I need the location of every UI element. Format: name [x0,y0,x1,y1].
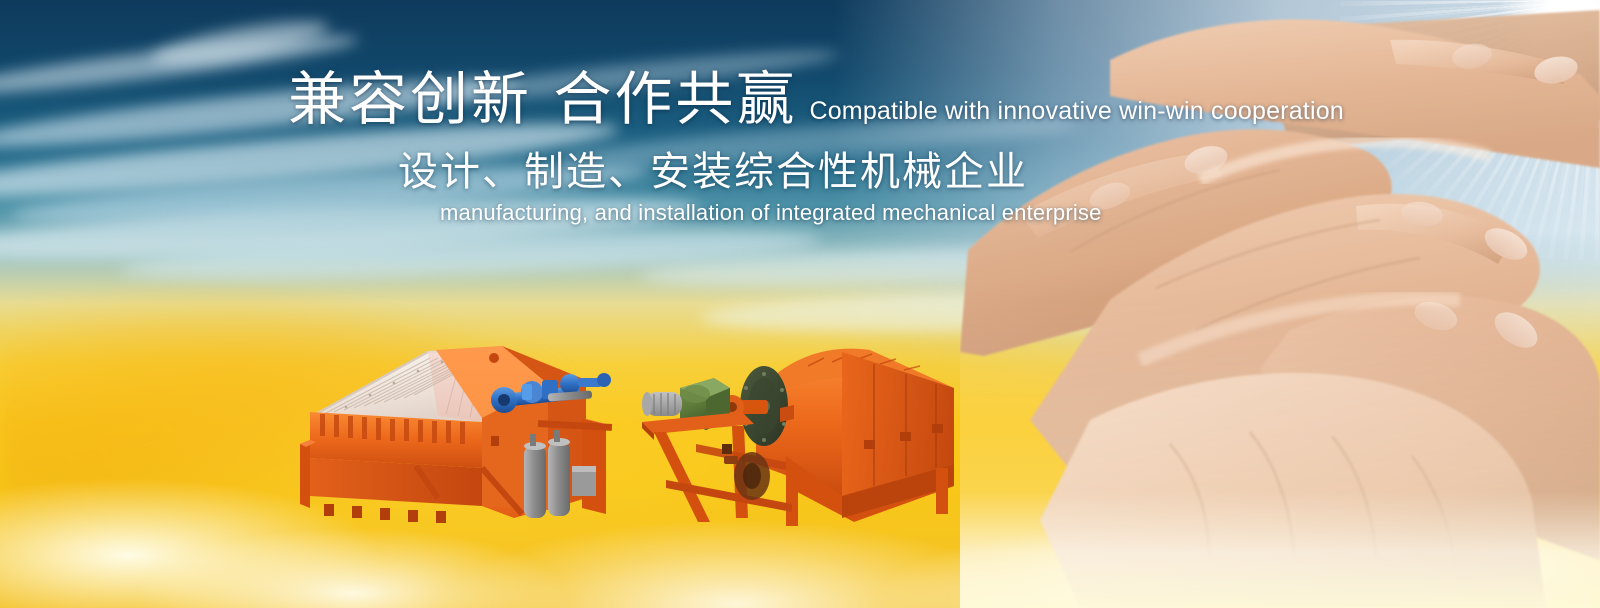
promotional-banner: 兼容创新 合作共赢 Compatible with innovative win… [0,0,1600,608]
headline-row: 兼容创新 合作共赢 Compatible with innovative win… [288,70,1344,128]
subhead-english: manufacturing, and installation of integ… [440,200,1102,226]
banner-copy: 兼容创新 合作共赢 Compatible with innovative win… [0,0,1600,608]
subhead-chinese: 设计、制造、安装综合性机械企业 [398,152,1028,192]
headline-chinese: 兼容创新 合作共赢 [288,70,797,128]
headline-english: Compatible with innovative win-win coope… [809,97,1343,126]
